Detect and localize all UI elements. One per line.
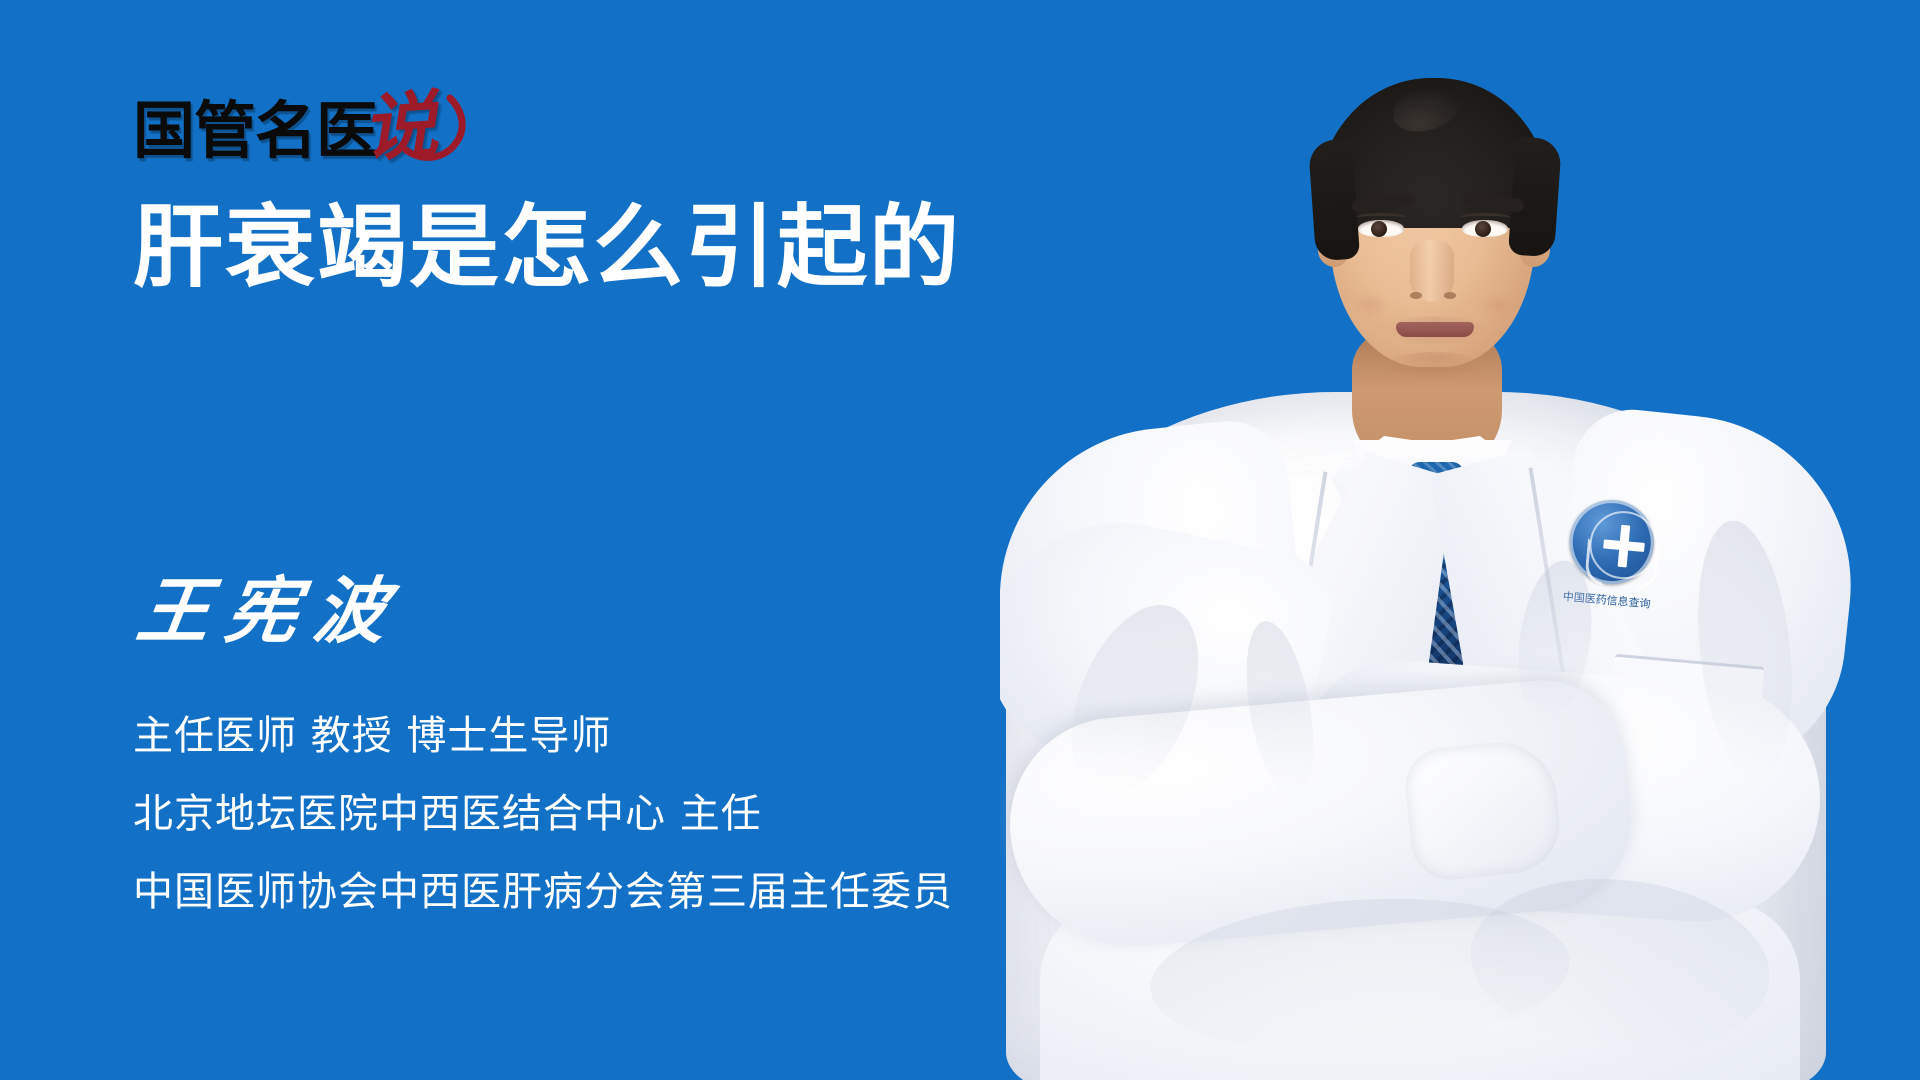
iris-left — [1371, 221, 1387, 237]
iris-right — [1475, 221, 1491, 237]
doctor-name: 王宪波 — [133, 575, 407, 647]
credential-line: 中国医师协会中西医肝病分会第三届主任委员 — [133, 872, 953, 912]
mouth — [1396, 322, 1474, 337]
eyelid-left — [1356, 213, 1406, 222]
slide-canvas: 国管名医 说 肝衰竭是怎么引起的 王宪波 主任医师 教授 博士生导师 北京地坛医… — [0, 0, 1920, 1080]
credential-line: 主任医师 教授 博士生导师 — [133, 716, 953, 756]
page-title: 肝衰竭是怎么引起的 — [133, 200, 961, 295]
hospital-badge-text: 中国医药信息查询 — [1552, 587, 1661, 612]
brand-logo: 国管名医 说 — [133, 90, 443, 166]
credential-line: 北京地坛医院中西医结合中心 主任 — [133, 794, 953, 834]
doctor-portrait-photo: 中国医药信息查询 — [1000, 0, 1920, 1080]
eye-left — [1358, 220, 1404, 237]
eye-right — [1462, 220, 1508, 237]
cheek-right — [1480, 292, 1516, 318]
nostril-left — [1410, 292, 1422, 299]
cheek-left — [1352, 292, 1388, 318]
nostril-right — [1444, 292, 1456, 299]
hospital-badge: 中国医药信息查询 — [1551, 494, 1670, 631]
eyelid-right — [1460, 213, 1510, 222]
brand-logo-main-text: 国管名医 — [133, 100, 377, 162]
hair-side-left — [1308, 139, 1360, 262]
chin-shadow — [1384, 352, 1484, 380]
doctor-credentials: 主任医师 教授 博士生导师 北京地坛医院中西医结合中心 主任 中国医师协会中西医… — [133, 716, 953, 912]
brand-logo-accent-text: 说 — [363, 88, 450, 167]
medical-cross-emblem-icon — [1566, 497, 1657, 588]
hair-side-right — [1508, 137, 1562, 258]
